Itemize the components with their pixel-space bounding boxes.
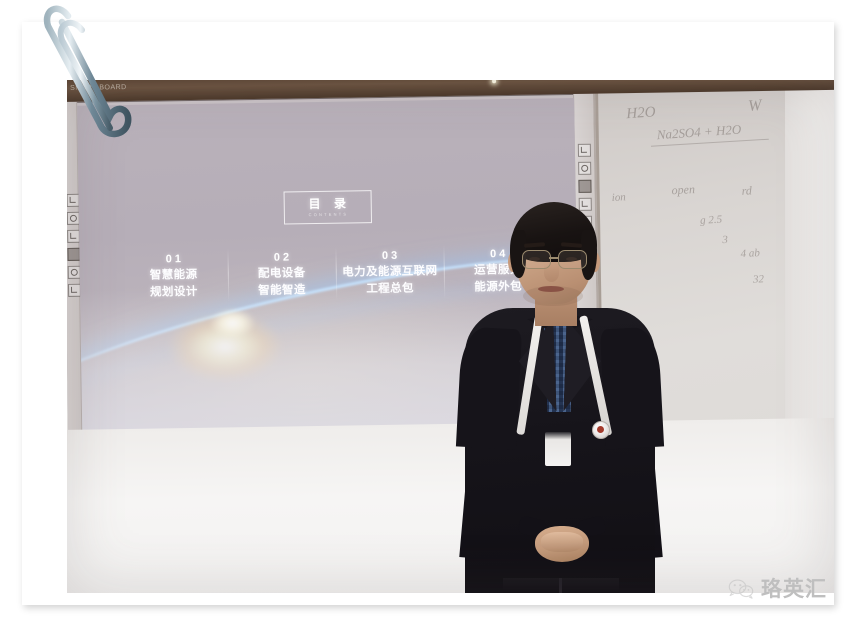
presenter-glasses-right	[558, 250, 587, 269]
presenter-left-shoulder	[456, 327, 522, 450]
presenter-trouser-split	[559, 578, 562, 593]
presenter-glasses-bridge	[549, 257, 558, 259]
presenter-chin-shadow	[523, 286, 583, 306]
watermark: 珞英汇	[728, 578, 827, 600]
presenter-pin-badge	[592, 421, 610, 439]
presenter	[67, 80, 834, 593]
wechat-icon	[728, 578, 754, 600]
photo-frame: H2OWNa2SO4 + H2Oionopenrdg 2.534 ab32	[22, 22, 834, 605]
page-canvas: H2OWNa2SO4 + H2Oionopenrdg 2.534 ab32	[0, 0, 867, 633]
presenter-nose	[544, 264, 559, 282]
presenter-hand-detail	[541, 532, 583, 552]
photograph: H2OWNa2SO4 + H2Oionopenrdg 2.534 ab32	[67, 80, 834, 593]
presenter-badge-card	[545, 432, 571, 466]
watermark-text: 珞英汇	[761, 579, 827, 600]
